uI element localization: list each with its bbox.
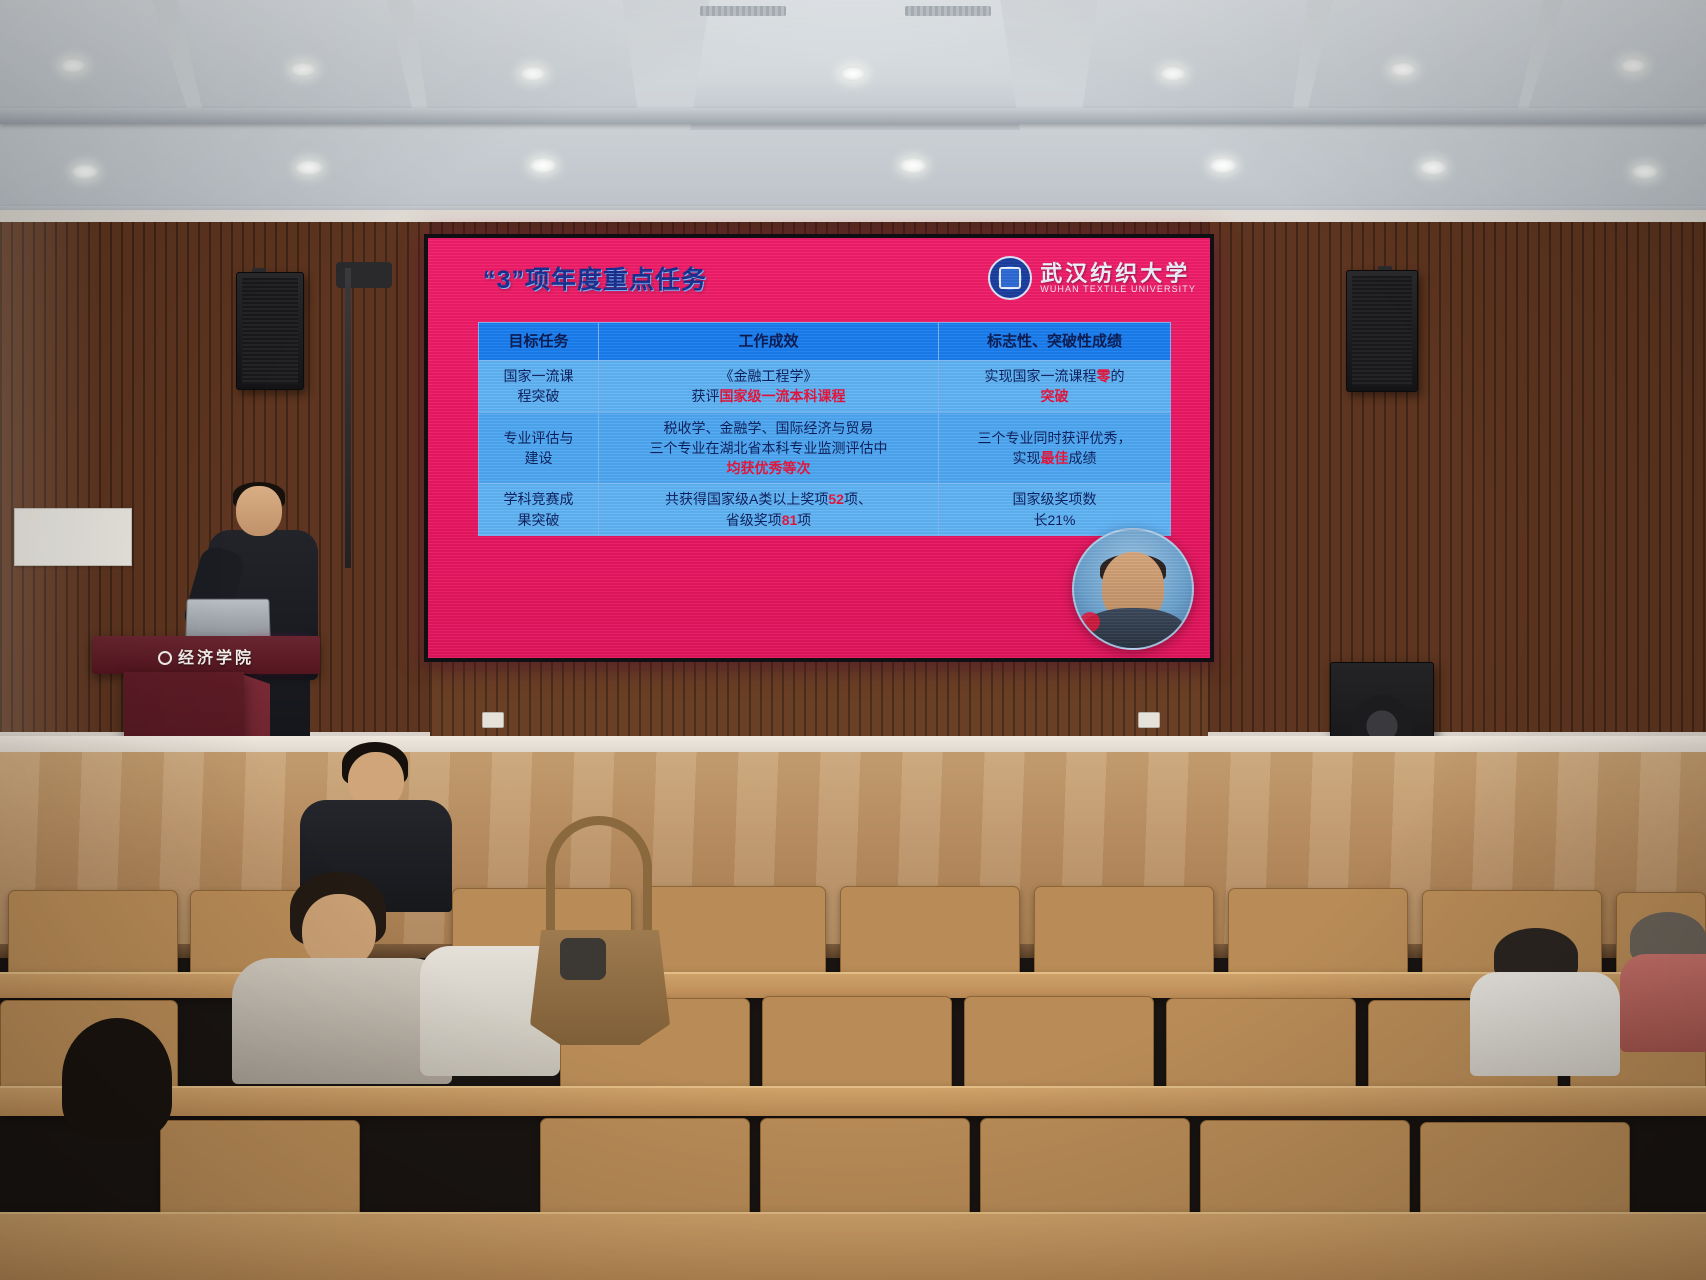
cell-task: 专业评估与 建设: [479, 412, 599, 484]
wall-speaker-right: [1346, 270, 1418, 392]
ceiling-downlight-icon: [530, 158, 556, 173]
seat-back[interactable]: [1034, 886, 1214, 976]
podium-top: 经济学院: [92, 636, 320, 674]
bag-handle: [546, 816, 652, 940]
ceiling-downlight-icon: [1390, 62, 1416, 77]
ceiling-vent: [700, 6, 786, 16]
ceiling-downlight-icon: [1632, 164, 1658, 179]
cell-task: 国家一流课 程突破: [479, 361, 599, 413]
podium-label: 经济学院: [92, 644, 320, 668]
wood-wall-panel-below-screen: [430, 658, 1208, 736]
seat-back[interactable]: [540, 1118, 750, 1220]
table-row: 国家一流课 程突破 《金融工程学》 获评国家级一流本科课程 实现国家一流课程零的…: [479, 361, 1171, 413]
slide-title: “3”项年度重点任务: [483, 260, 707, 296]
microphone-stand: [345, 268, 351, 568]
ceiling-beam: [1527, 0, 1706, 112]
seat-back[interactable]: [760, 1118, 970, 1220]
ceiling-downlight-icon: [1160, 66, 1186, 81]
ceiling-downlight-icon: [60, 58, 86, 73]
brand-name-en: WUHAN TEXTILE UNIVERSITY: [1040, 285, 1196, 294]
highlight-text: 国家级一流本科课程: [720, 388, 846, 404]
ceiling-downlight-icon: [1420, 160, 1446, 175]
audience-hair: [62, 1018, 172, 1138]
lecture-hall-scene: “3”项年度重点任务 武汉纺织大学 WUHAN TEXTILE UNIVERSI…: [0, 0, 1706, 1280]
ceiling-downlight-icon: [296, 160, 322, 175]
ceiling-beam: [1307, 0, 1543, 112]
wall-outlet: [1138, 712, 1160, 728]
ceiling-downlight-icon: [900, 158, 926, 173]
audience-member: [232, 872, 452, 1072]
desk-row-front: [0, 1212, 1706, 1280]
ceiling-beam: [412, 0, 638, 112]
seat-back[interactable]: [964, 996, 1154, 1092]
cell-achievement: 三个专业同时获评优秀， 实现最佳成绩: [939, 412, 1171, 484]
audience-member: [1470, 928, 1620, 1068]
audience-body: [1620, 954, 1706, 1052]
ceiling-downlight-icon: [1620, 58, 1646, 73]
seat-back[interactable]: [1228, 888, 1408, 976]
highlight-text: 零: [1097, 368, 1111, 384]
cell-result: 《金融工程学》 获评国家级一流本科课程: [599, 361, 939, 413]
audience-body: [1470, 972, 1620, 1076]
bag-pocket: [560, 938, 606, 980]
remote-participant-video[interactable]: [1072, 528, 1194, 650]
seat-back[interactable]: [1200, 1120, 1410, 1220]
ceiling-beam-horizontal: [0, 108, 1706, 124]
column-header-achievement: 标志性、突破性成绩: [939, 323, 1171, 361]
ceiling-downlight-icon: [72, 164, 98, 179]
ceiling-beam: [1082, 0, 1308, 112]
highlight-text: 突破: [943, 386, 1166, 406]
table-row: 专业评估与 建设 税收学、金融学、国际经济与贸易 三个专业在湖北省本科专业监测评…: [479, 412, 1171, 484]
university-seal-icon: [988, 256, 1032, 300]
wood-wall-panel-right: [1208, 222, 1706, 732]
video-status-badge: [1080, 612, 1100, 632]
seat-back[interactable]: [980, 1118, 1190, 1220]
ceiling-downlight-icon: [840, 66, 866, 81]
cell-result: 税收学、金融学、国际经济与贸易 三个专业在湖北省本科专业监测评估中 均获优秀等次: [599, 412, 939, 484]
seat-back[interactable]: [1420, 1122, 1630, 1220]
audience-body: [232, 958, 452, 1084]
wall-notice-board: [14, 508, 132, 566]
audience-member: [1620, 912, 1706, 1042]
highlight-text: 均获优秀等次: [603, 458, 934, 478]
cell-achievement: 实现国家一流课程零的 突破: [939, 361, 1171, 413]
ceiling-downlight-icon: [290, 62, 316, 77]
seat-back[interactable]: [762, 996, 952, 1092]
seat-back[interactable]: [1166, 998, 1356, 1092]
column-header-result: 工作成效: [599, 323, 939, 361]
highlight-text: 最佳: [1041, 450, 1069, 466]
column-header-task: 目标任务: [479, 323, 599, 361]
cell-result: 共获得国家级A类以上奖项52项、 省级奖项81项: [599, 484, 939, 536]
seat-back[interactable]: [8, 890, 178, 976]
speaker-grill: [242, 278, 298, 384]
audience-member: [40, 1018, 200, 1198]
laptop-icon[interactable]: [185, 599, 270, 640]
ceiling-downlight-icon: [1210, 158, 1236, 173]
seat-back[interactable]: [646, 886, 826, 976]
presenter-head: [236, 486, 282, 536]
brand-name-cn: 武汉纺织大学: [1040, 262, 1196, 285]
key-tasks-table: 目标任务 工作成效 标志性、突破性成绩 国家一流课 程突破 《金融工程学》: [478, 322, 1171, 536]
ceiling-beam: [0, 0, 188, 112]
economics-school-logo-icon: [158, 651, 172, 665]
seat-back[interactable]: [840, 886, 1020, 976]
highlight-number: 81: [782, 512, 798, 528]
slide-surface: “3”项年度重点任务 武汉纺织大学 WUHAN TEXTILE UNIVERSI…: [428, 238, 1210, 658]
speaker-grill: [1352, 276, 1412, 386]
ceiling-vent: [905, 6, 991, 16]
university-brand: 武汉纺织大学 WUHAN TEXTILE UNIVERSITY: [988, 256, 1196, 300]
led-screen[interactable]: “3”项年度重点任务 武汉纺织大学 WUHAN TEXTILE UNIVERSI…: [424, 234, 1214, 662]
table-row: 学科竞赛成 果突破 共获得国家级A类以上奖项52项、 省级奖项81项 国家级奖项…: [479, 484, 1171, 536]
highlight-number: 52: [828, 491, 844, 507]
wall-speaker-left: [236, 272, 304, 390]
desk-row: [0, 1086, 1706, 1116]
wall-outlet: [482, 712, 504, 728]
ceiling-downlight-icon: [520, 66, 546, 81]
ceiling-beam: [177, 0, 413, 112]
podium-label-text: 经济学院: [178, 650, 254, 667]
table-header-row: 目标任务 工作成效 标志性、突破性成绩: [479, 323, 1171, 361]
cell-task: 学科竞赛成 果突破: [479, 484, 599, 536]
